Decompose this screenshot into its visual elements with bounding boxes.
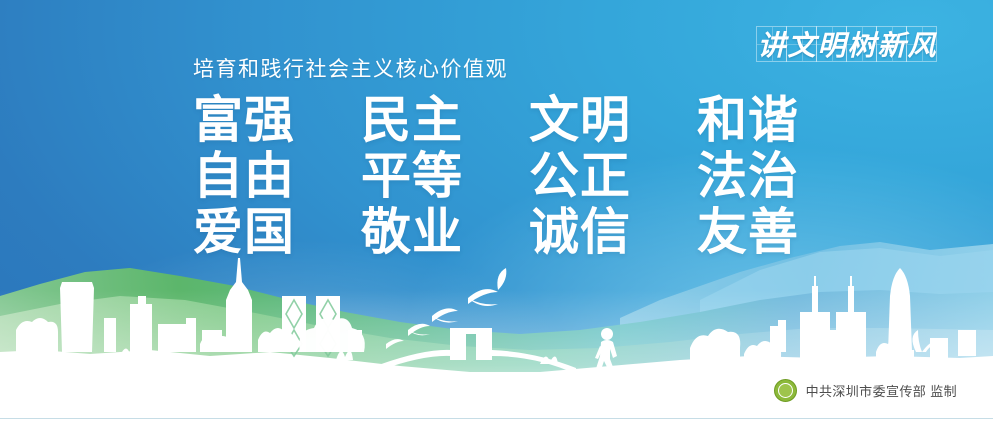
page-subtitle: 培育和践行社会主义核心价值观 bbox=[193, 53, 508, 83]
slogan-char: 新 bbox=[877, 27, 906, 61]
department-emblem-icon bbox=[774, 379, 797, 402]
slogan-char: 树 bbox=[847, 27, 876, 61]
slogan-grid-cell: 风 bbox=[906, 26, 937, 62]
slogan-grid-cell: 新 bbox=[876, 26, 907, 62]
propaganda-poster: 培育和践行社会主义核心价值观 富强 民主 文明 和谐 自由 平等 公正 法治 爱… bbox=[0, 0, 993, 426]
calligraphy-slogan: 讲 文 明 树 新 风 bbox=[757, 26, 937, 62]
slogan-char: 讲 bbox=[757, 27, 786, 61]
slogan-grid-cell: 明 bbox=[816, 26, 847, 62]
value-word: 诚信 bbox=[529, 204, 697, 260]
slogan-grid-cell: 树 bbox=[846, 26, 877, 62]
slogan-char: 明 bbox=[817, 27, 846, 61]
value-word: 敬业 bbox=[361, 204, 529, 260]
value-word: 公正 bbox=[529, 148, 697, 204]
value-word: 自由 bbox=[193, 148, 361, 204]
value-word: 平等 bbox=[361, 148, 529, 204]
slogan-char: 文 bbox=[787, 27, 816, 61]
value-word: 和谐 bbox=[697, 92, 865, 148]
value-word: 民主 bbox=[361, 92, 529, 148]
slogan-char: 风 bbox=[907, 27, 936, 61]
credit-label: 中共深圳市委宣传部 监制 bbox=[806, 381, 957, 400]
slogan-grid-cell: 文 bbox=[786, 26, 817, 62]
slogan-grid-cell: 讲 bbox=[756, 26, 787, 62]
value-word: 富强 bbox=[193, 92, 361, 148]
value-word: 爱国 bbox=[193, 204, 361, 260]
value-word: 文明 bbox=[529, 92, 697, 148]
value-word: 法治 bbox=[697, 148, 865, 204]
bottom-white-margin bbox=[0, 419, 993, 426]
publisher-credit: 中共深圳市委宣传部 监制 bbox=[774, 379, 957, 402]
core-values-grid: 富强 民主 文明 和谐 自由 平等 公正 法治 爱国 敬业 诚信 友善 bbox=[193, 92, 865, 260]
value-word: 友善 bbox=[697, 204, 865, 260]
